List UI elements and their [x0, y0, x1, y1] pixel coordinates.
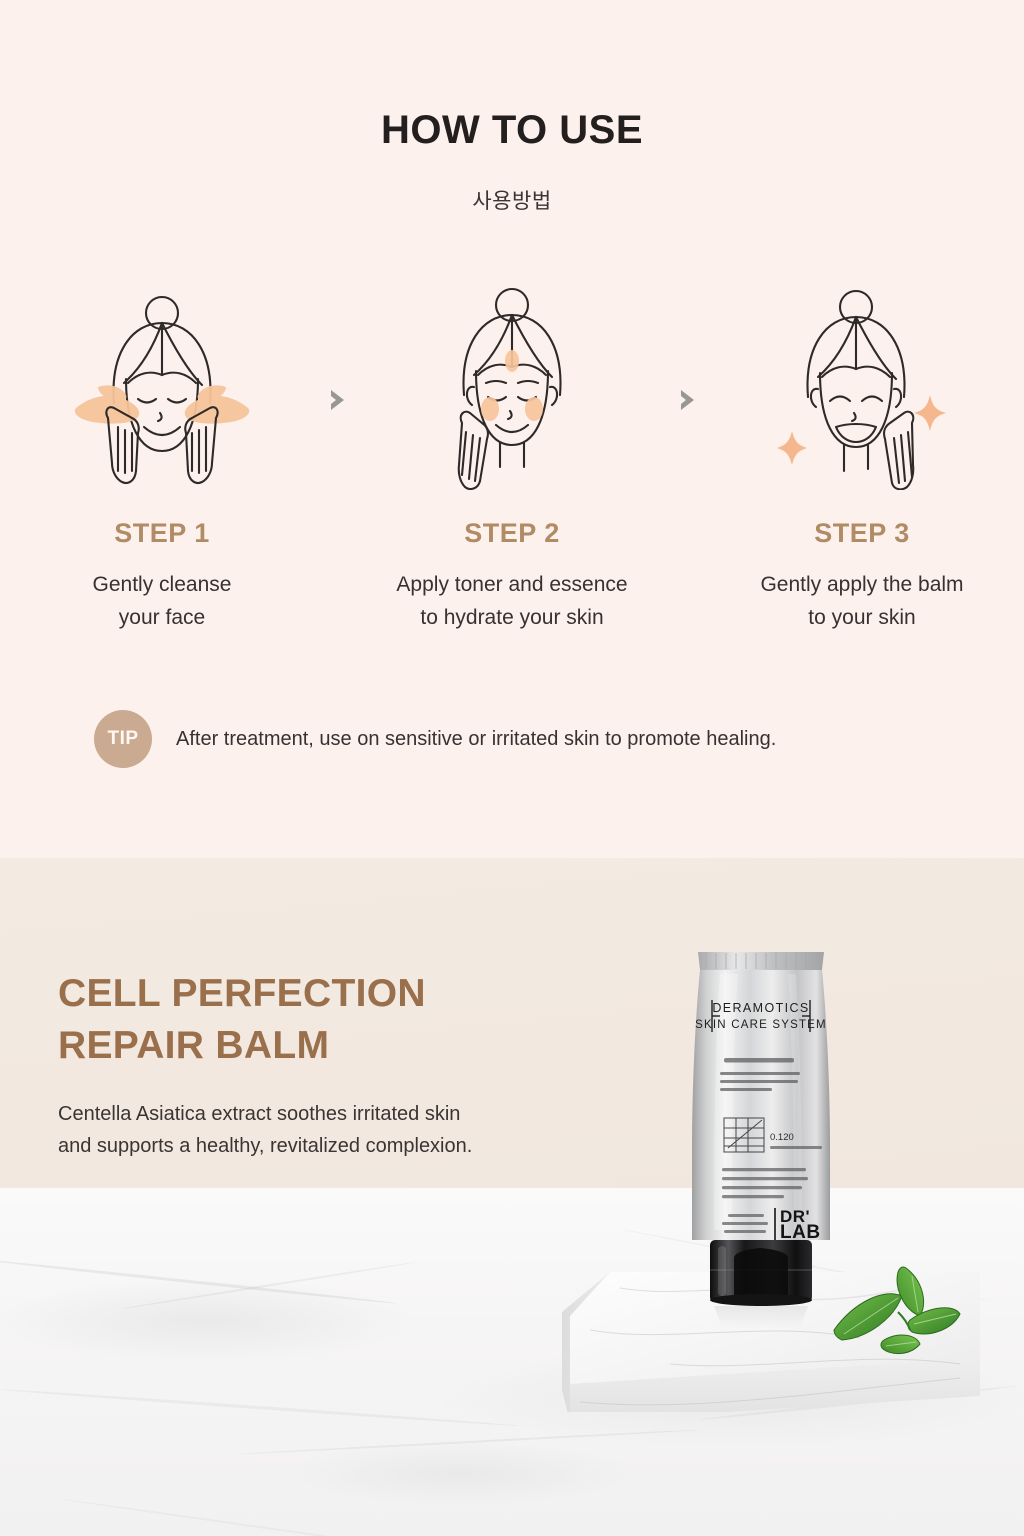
basil-leaf-decoration [832, 1262, 962, 1372]
step-desc-line: Apply toner and essence [396, 569, 627, 602]
step-desc-line: your face [93, 602, 232, 635]
step-item-2: STEP 2 Apply toner and essence to hydrat… [357, 275, 667, 634]
step-desc-line: Gently cleanse [93, 569, 232, 602]
face-smiling-sparkles-icon [762, 275, 962, 490]
tube-logo-bottom: LAB [780, 1222, 821, 1243]
headline-line-2: REPAIR BALM [58, 1024, 329, 1067]
tube-brand-line-1: DERAMOTICS [712, 1001, 809, 1015]
step-label-1: STEP 1 [114, 518, 210, 549]
product-description: Centella Asiatica extract soothes irrita… [58, 1098, 578, 1163]
tip-badge: TIP [94, 710, 152, 768]
tip-row: TIP After treatment, use on sensitive or… [94, 710, 776, 768]
face-applying-toner-icon [412, 275, 612, 490]
chevron-right-icon [667, 380, 707, 420]
product-headline: CELL PERFECTION REPAIR BALM [58, 968, 426, 1072]
page-subtitle-korean: 사용방법 [0, 185, 1024, 215]
tube-volume: 0.120 [770, 1132, 794, 1143]
step-desc-line: to your skin [760, 602, 963, 635]
step-description-3: Gently apply the balm to your skin [760, 569, 963, 634]
description-line-1: Centella Asiatica extract soothes irrita… [58, 1103, 460, 1125]
page-title: HOW TO USE [0, 108, 1024, 153]
step-desc-line: Gently apply the balm [760, 569, 963, 602]
face-cleansing-two-hands-icon [62, 275, 262, 490]
product-tube-image: DERAMOTICS SKIN CARE SYSTEM 0.120 [676, 940, 846, 1330]
step-item-1: STEP 1 Gently cleanse your face [7, 275, 317, 634]
step-label-2: STEP 2 [464, 518, 560, 549]
step-desc-line: to hydrate your skin [396, 602, 627, 635]
tube-brand-line-2: SKIN CARE SYSTEM [695, 1019, 827, 1031]
step-label-3: STEP 3 [814, 518, 910, 549]
chevron-right-icon [317, 380, 357, 420]
product-section [0, 858, 1024, 1536]
how-to-use-section: HOW TO USE 사용방법 [0, 0, 1024, 858]
steps-row: STEP 1 Gently cleanse your face [0, 275, 1024, 655]
headline-line-1: CELL PERFECTION [58, 972, 426, 1015]
step-item-3: STEP 3 Gently apply the balm to your ski… [707, 275, 1017, 634]
step-description-2: Apply toner and essence to hydrate your … [396, 569, 627, 634]
step-description-1: Gently cleanse your face [93, 569, 232, 634]
description-line-2: and supports a healthy, revitalized comp… [58, 1135, 472, 1157]
tip-text: After treatment, use on sensitive or irr… [176, 728, 776, 751]
